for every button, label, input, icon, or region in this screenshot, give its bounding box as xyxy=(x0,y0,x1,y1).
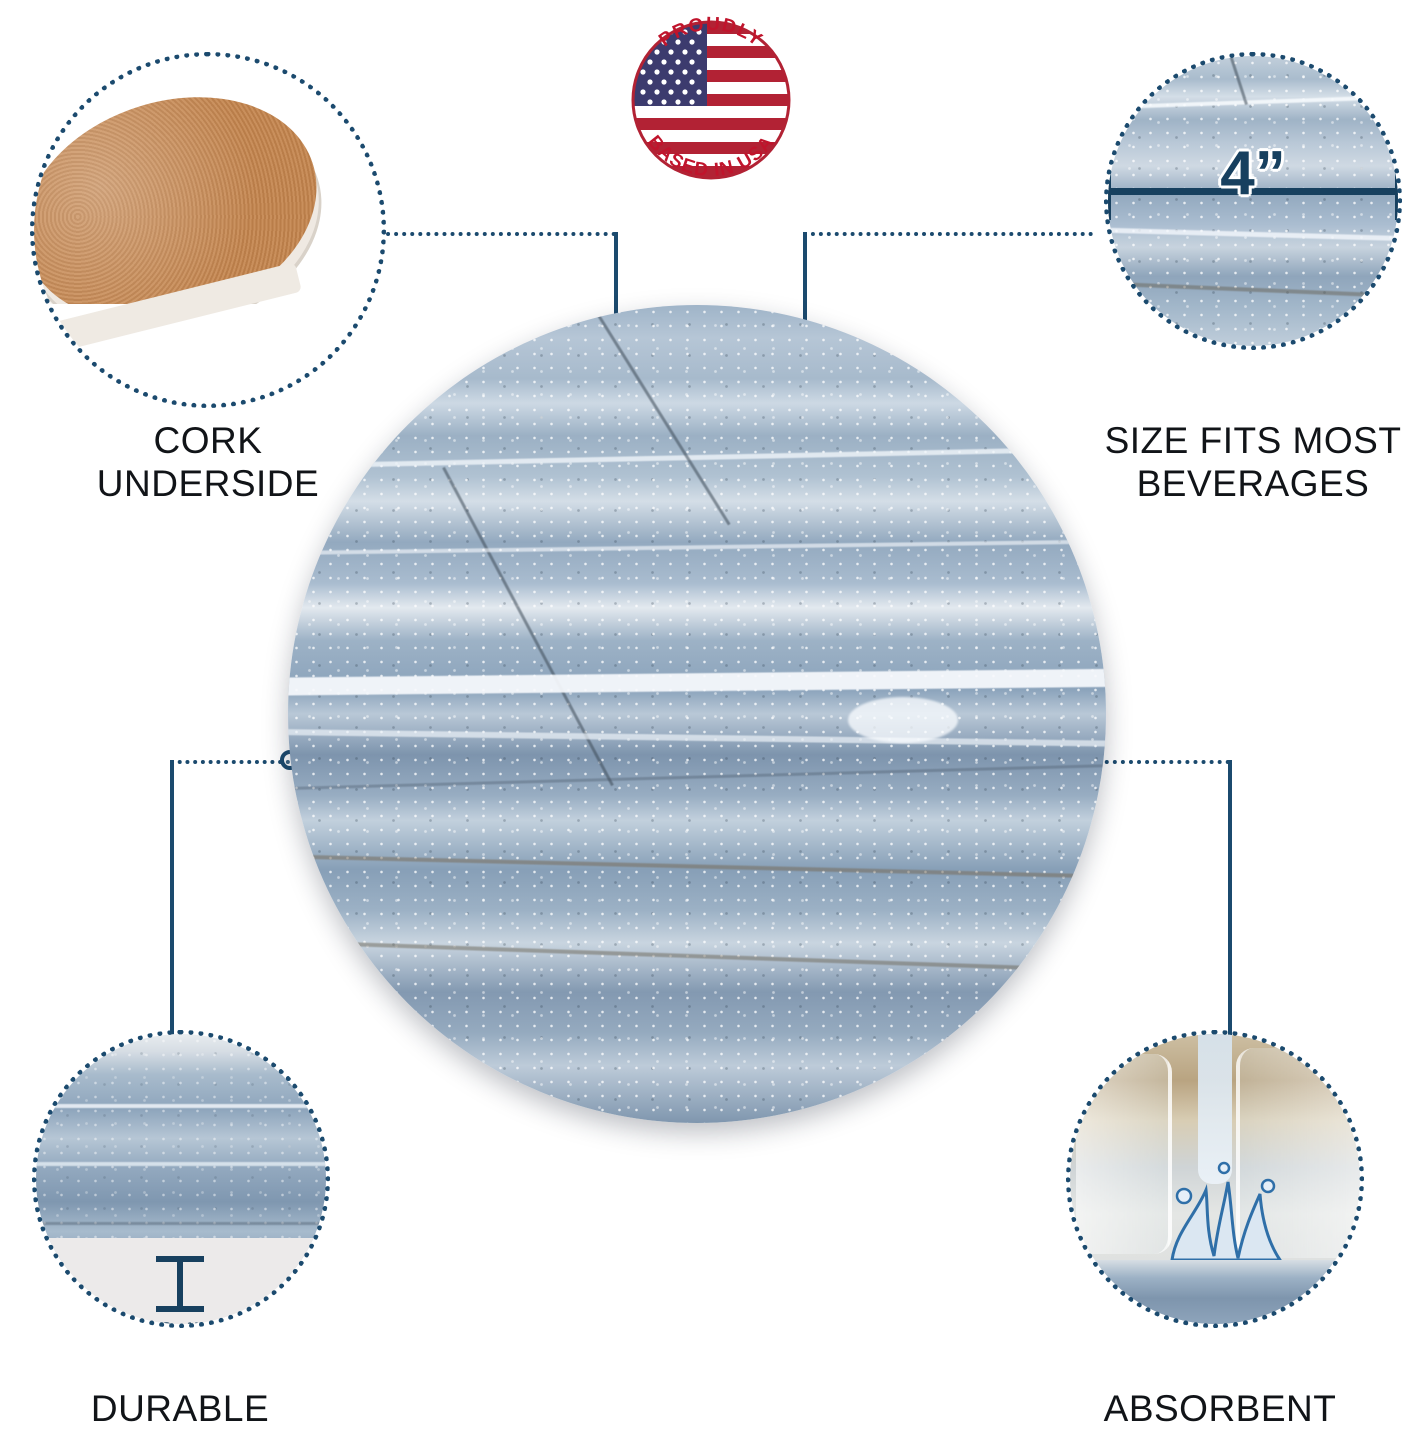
callout-absorbent-label-line1: ABSORBENT xyxy=(1040,1388,1400,1431)
usa-badge-graphic: PROUDLY BASED IN USA xyxy=(613,2,809,198)
marble-vein xyxy=(848,697,958,743)
callout-size-label-line1: SIZE FITS MOST xyxy=(1058,420,1412,463)
callout-size-label-line2: BEVERAGES xyxy=(1058,463,1412,506)
coaster-top-view xyxy=(288,305,1106,1123)
callout-cork-label-line2: UNDERSIDE xyxy=(18,463,398,506)
callout-durable-label-line1: DURABLE xyxy=(0,1388,360,1431)
callout-size-label: SIZE FITS MOST BEVERAGES xyxy=(1058,420,1412,506)
usa-badge: PROUDLY BASED IN USA xyxy=(613,2,809,198)
connector-size-horizontal xyxy=(803,232,1093,236)
callout-absorbent-ring xyxy=(1066,1030,1364,1328)
connector-absorbent-vertical xyxy=(1228,760,1232,1042)
connector-durable-horizontal xyxy=(170,760,290,764)
callout-cork-label: CORK UNDERSIDE xyxy=(18,420,398,506)
callout-absorbent-label: ABSORBENT xyxy=(1040,1388,1400,1431)
callout-durable-label: DURABLE xyxy=(0,1388,360,1431)
product-infographic: PROUDLY BASED IN USA CORK UNDERSIDE xyxy=(0,0,1412,1422)
connector-durable-vertical xyxy=(170,760,174,1040)
marble-speckle-overlay xyxy=(288,305,1106,1123)
callout-size-ring xyxy=(1104,52,1402,350)
callout-cork-label-line1: CORK xyxy=(18,420,398,463)
callout-durable-ring xyxy=(32,1030,330,1328)
connector-cork-horizontal xyxy=(378,232,616,236)
callout-cork-ring xyxy=(30,52,386,408)
